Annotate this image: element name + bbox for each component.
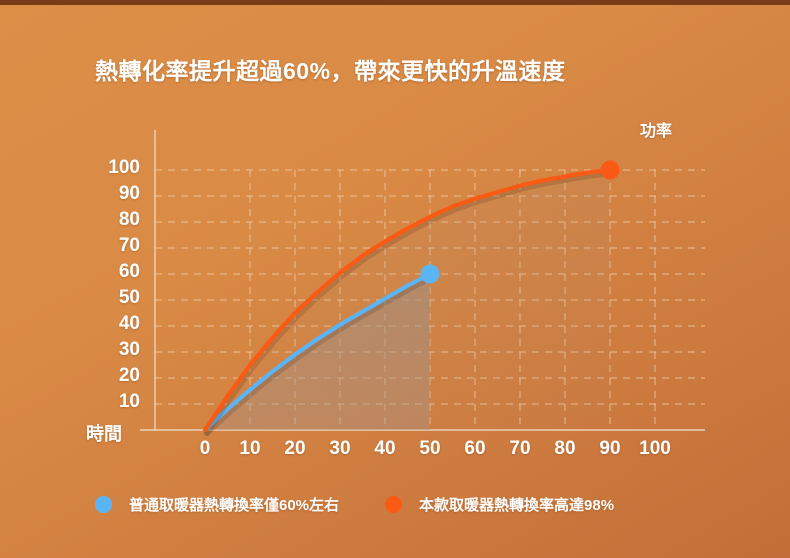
y-tick-label: 20 bbox=[94, 365, 140, 387]
legend-label: 本款取暖器熱轉換率高達98% bbox=[419, 494, 614, 515]
endpoint-marker-product bbox=[601, 161, 620, 180]
legend-item: 本款取暖器熱轉換率高達98% bbox=[385, 494, 614, 515]
y-tick-label: 80 bbox=[94, 209, 140, 231]
endpoint-marker-ordinary bbox=[421, 265, 440, 284]
y-tick-label: 30 bbox=[94, 339, 140, 361]
x-axis-title: 時間 bbox=[86, 420, 122, 446]
legend-dot-ordinary bbox=[95, 496, 112, 513]
y-axis-title: 功率 bbox=[640, 117, 672, 141]
y-tick-label: 40 bbox=[94, 313, 140, 335]
chart-legend: 普通取暖器熱轉換率僅60%左右本款取暖器熱轉換率高達98% bbox=[95, 494, 614, 515]
y-axis-tick-labels: 102030405060708090100 bbox=[94, 0, 140, 558]
y-tick-label: 50 bbox=[94, 287, 140, 309]
chart-plot-area: 102030405060708090100 010203040506070809… bbox=[0, 0, 790, 558]
y-tick-label: 10 bbox=[94, 391, 140, 413]
y-tick-label: 70 bbox=[94, 235, 140, 257]
legend-dot-product bbox=[385, 496, 402, 513]
infographic-root: 熱轉化率提升超過60%，帶來更快的升溫速度 102030405060708090… bbox=[0, 0, 790, 558]
y-tick-label: 90 bbox=[94, 183, 140, 205]
y-tick-label: 60 bbox=[94, 261, 140, 283]
x-tick-label: 100 bbox=[625, 438, 685, 460]
legend-label: 普通取暖器熱轉換率僅60%左右 bbox=[129, 494, 339, 515]
y-tick-label: 100 bbox=[94, 157, 140, 179]
legend-item: 普通取暖器熱轉換率僅60%左右 bbox=[95, 494, 339, 515]
